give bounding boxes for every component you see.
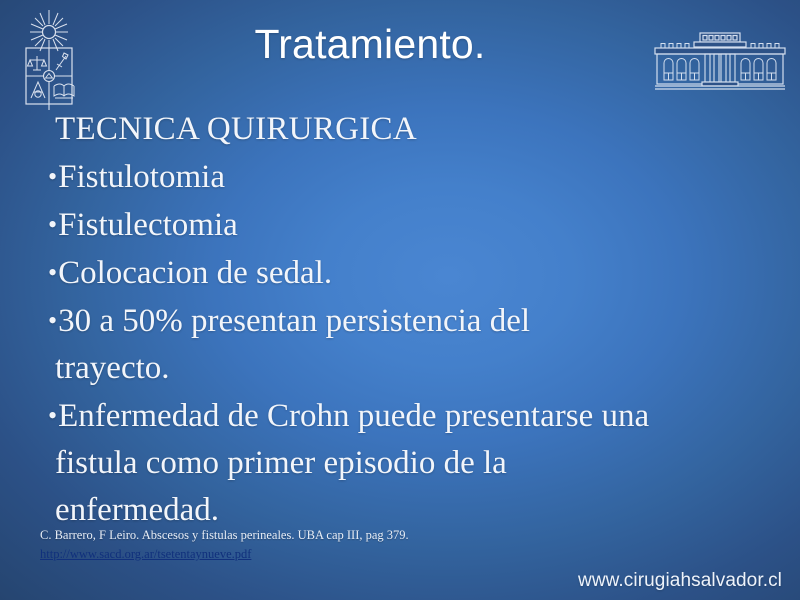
list-item-continuation: fistula como primer episodio de la [48, 440, 778, 487]
list-item: Colocacion de sedal. [48, 249, 778, 297]
citation-link[interactable]: http://www.sacd.org.ar/tsetentaynueve.pd… [40, 546, 251, 563]
citation: C. Barrero, F Leiro. Abscesos y fistulas… [40, 527, 600, 563]
slide: Tratamiento. TECNICA QUIRURGICA Fistulot… [0, 0, 800, 600]
list-item-continuation: trayecto. [48, 345, 778, 392]
list-item: Fistulectomia [48, 201, 778, 249]
list-item: Enfermedad de Crohn puede presentarse un… [48, 392, 778, 440]
citation-text: C. Barrero, F Leiro. Abscesos y fistulas… [40, 528, 409, 542]
hospital-building-facade-icon [650, 30, 790, 92]
list-item: Fistulotomia [48, 153, 778, 201]
footer-website: www.cirugiahsalvador.cl [578, 570, 782, 592]
body-heading: TECNICA QUIRURGICA [48, 106, 778, 153]
list-item: 30 a 50% presentan persistencia del [48, 297, 778, 345]
slide-body: TECNICA QUIRURGICA Fistulotomia Fistulec… [48, 106, 778, 534]
university-of-chile-coat-of-arms-icon [18, 6, 80, 110]
page-title: Tratamiento. [100, 18, 640, 70]
